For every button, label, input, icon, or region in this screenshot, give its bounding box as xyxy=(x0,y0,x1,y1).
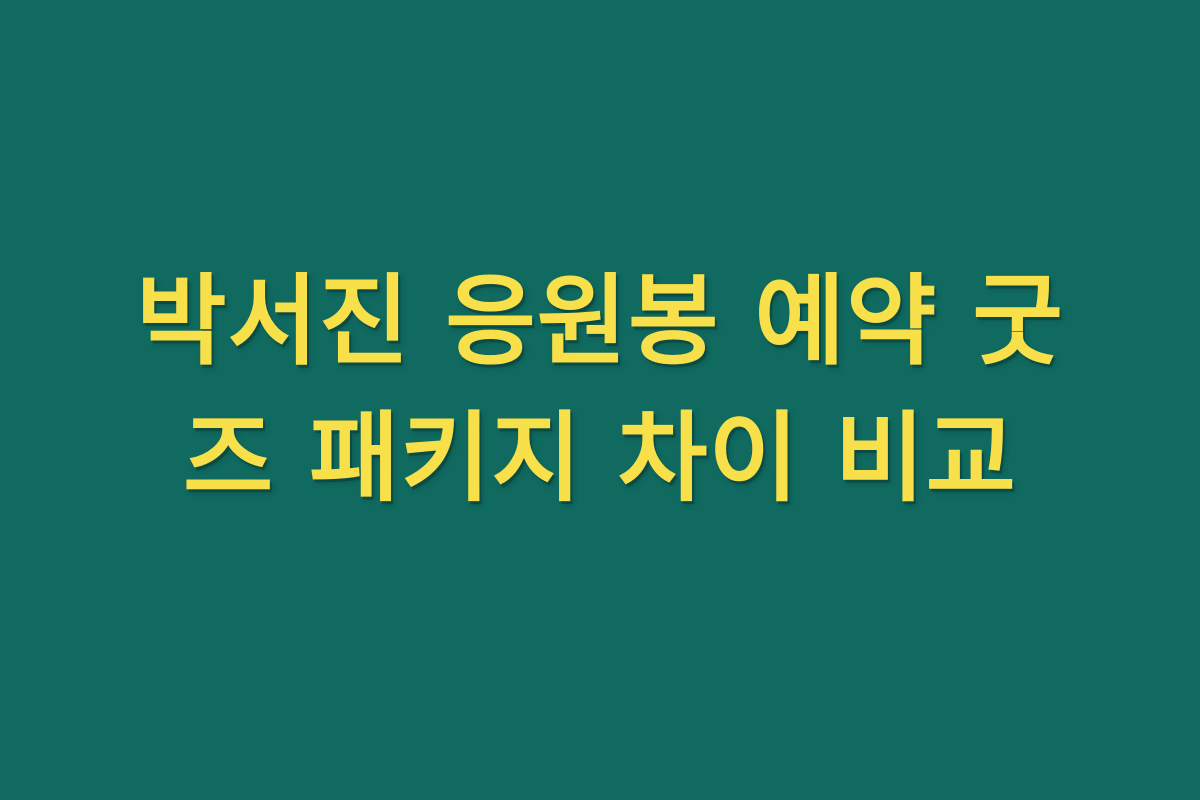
banner-canvas: 박서진 응원봉 예약 굿 즈 패키지 차이 비교 xyxy=(0,0,1200,800)
banner-title-block: 박서진 응원봉 예약 굿 즈 패키지 차이 비교 xyxy=(100,255,1100,528)
banner-title-line-2: 즈 패키지 차이 비교 xyxy=(183,392,1017,527)
banner-title-line-1: 박서진 응원봉 예약 굿 xyxy=(136,255,1064,391)
